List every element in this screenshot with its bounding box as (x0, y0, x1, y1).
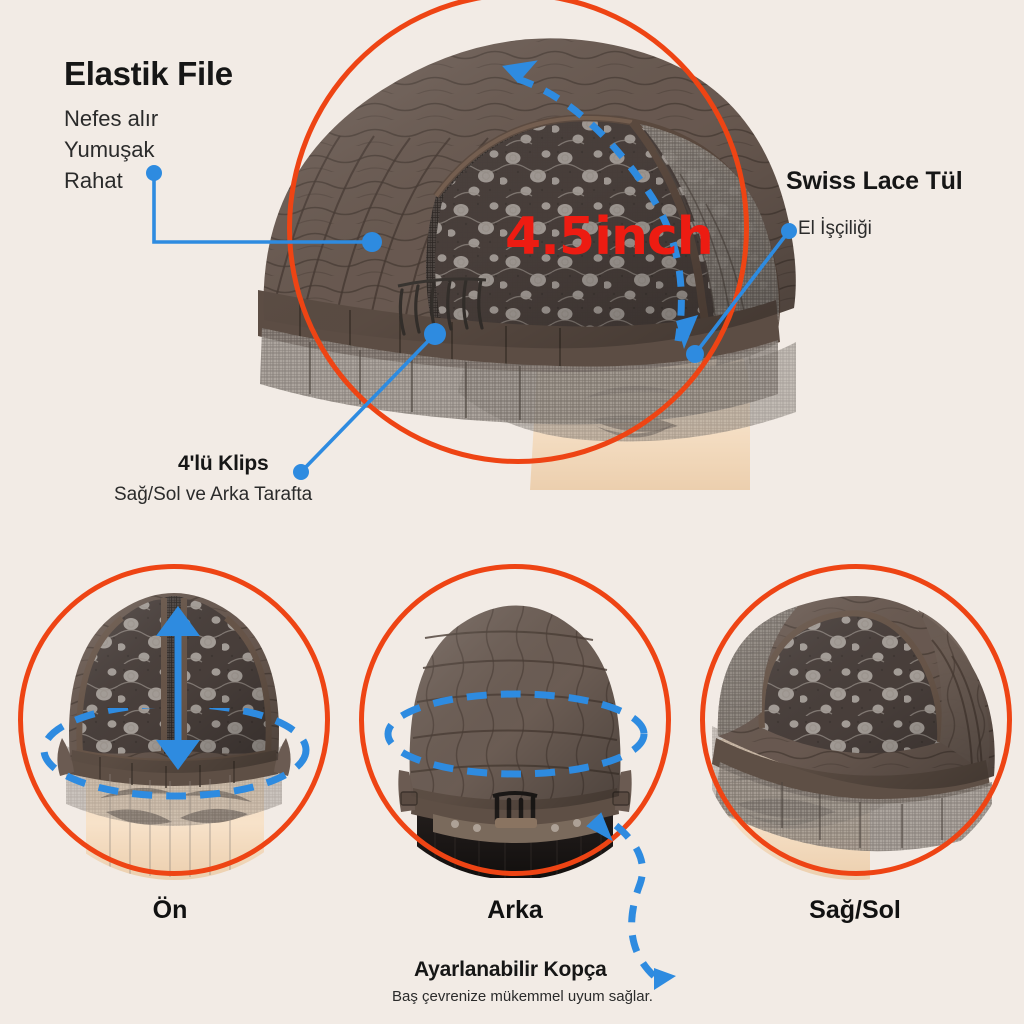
view-front (14, 560, 334, 880)
elastic-net-title: Elastik File (64, 57, 233, 92)
elastic-net-line-3: Rahat (64, 166, 123, 196)
adjustable-strap-line-1: Baş çevrenize mükemmel uyum sağlar. (392, 988, 653, 1005)
swiss-lace-leader-line (678, 215, 808, 365)
swiss-lace-title: Swiss Lace Tül (786, 168, 962, 194)
side-highlight-ring (700, 564, 1012, 876)
clips-title: 4'lü Klips (178, 452, 269, 476)
clips-leader-line (285, 320, 455, 480)
view-side-caption: Sağ/Sol (700, 896, 1010, 925)
elastic-net-line-1: Nefes alır (64, 104, 158, 134)
infographic-canvas: 4.5inch Elastik File Nefes alır Yumuşak … (0, 0, 1024, 1024)
view-front-caption: Ön (20, 896, 320, 925)
adjustable-strap-title: Ayarlanabilir Kopça (414, 958, 607, 982)
front-highlight-ring (18, 564, 330, 876)
elastic-net-leader-line (140, 160, 390, 270)
clips-line-1: Sağ/Sol ve Arka Tarafta (114, 484, 312, 506)
hero-section: 4.5inch Elastik File Nefes alır Yumuşak … (0, 0, 1024, 540)
swiss-lace-line-1: El İşçiliği (798, 218, 872, 240)
view-side (696, 560, 1016, 880)
